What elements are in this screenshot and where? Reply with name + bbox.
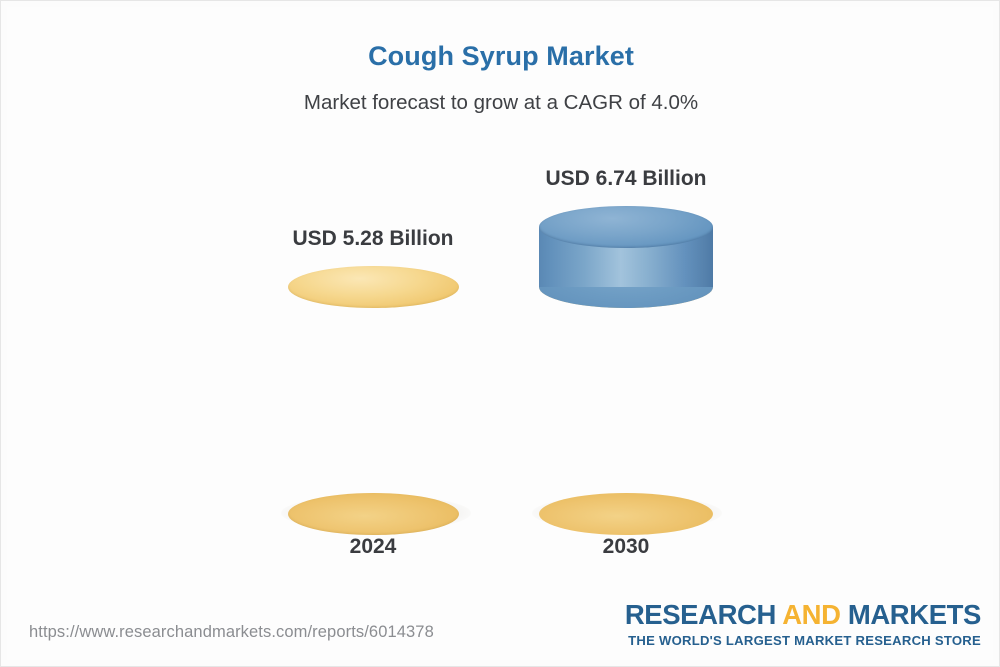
logo-tagline: THE WORLD'S LARGEST MARKET RESEARCH STOR… <box>625 634 981 647</box>
logo-word-research: RESEARCH <box>625 599 776 630</box>
logo-word-markets: MARKETS <box>848 599 981 630</box>
logo-word-and: AND <box>782 599 840 630</box>
bar-2024-top-cap <box>288 266 459 308</box>
chart-title: Cough Syrup Market <box>1 41 1000 72</box>
chart-subtitle: Market forecast to grow at a CAGR of 4.0… <box>1 91 1000 115</box>
bar-2024-value-label: USD 5.28 Billion <box>273 227 473 251</box>
bar-2030-category-label: 2030 <box>526 535 726 559</box>
bar-2030-growth-top-cap <box>539 206 713 248</box>
research-and-markets-logo[interactable]: RESEARCH AND MARKETS THE WORLD'S LARGEST… <box>625 601 981 647</box>
chart-canvas: Cough Syrup Market Market forecast to gr… <box>0 0 1000 667</box>
bar-2030-value-label: USD 6.74 Billion <box>526 167 726 191</box>
bar-2030-base-body <box>539 287 713 514</box>
logo-wordmark: RESEARCH AND MARKETS <box>625 601 981 629</box>
source-url[interactable]: https://www.researchandmarkets.com/repor… <box>29 623 434 642</box>
bar-2024-body <box>288 287 459 514</box>
bar-2024-category-label: 2024 <box>273 535 473 559</box>
